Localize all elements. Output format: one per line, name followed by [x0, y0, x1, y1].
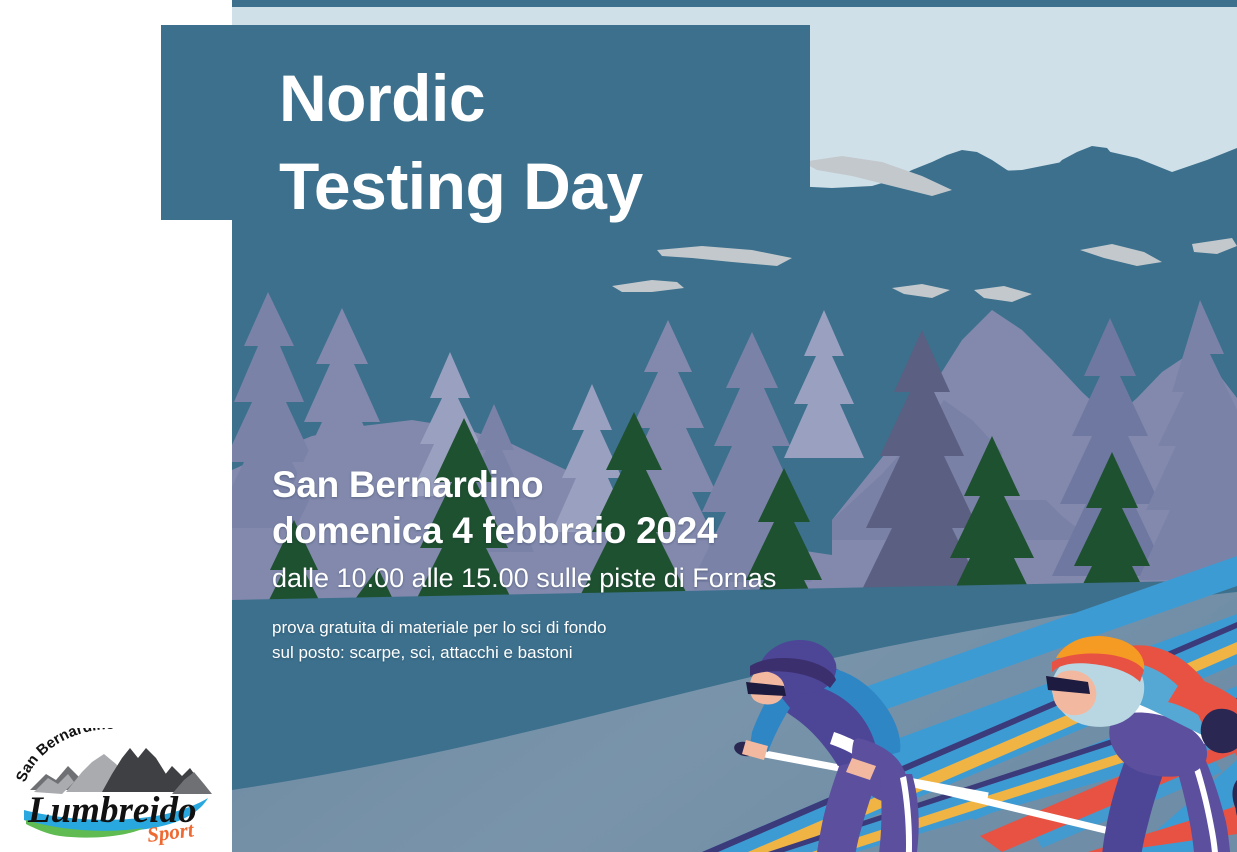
event-time-and-place: dalle 10.00 alle 15.00 sulle piste di Fo… [272, 562, 776, 594]
event-detail-line-1: prova gratuita di materiale per lo sci d… [272, 616, 776, 640]
event-location: San Bernardino [272, 462, 776, 508]
event-detail-line-2: sul posto: scarpe, sci, attacchi e basto… [272, 641, 776, 665]
poster-root: Nordic Testing Day San Bernardino domeni… [0, 0, 1237, 852]
sponsor-logo: San Bernardino Lumbreido Sport [16, 728, 221, 846]
logo-sport-text: Sport [146, 817, 196, 846]
title-line-1: Nordic [279, 65, 485, 131]
logo-svg: San Bernardino Lumbreido Sport [16, 728, 221, 846]
top-edge-line [232, 0, 1237, 7]
event-date: domenica 4 febbraio 2024 [272, 508, 776, 554]
title-line-2: Testing Day [279, 153, 643, 219]
event-details: San Bernardino domenica 4 febbraio 2024 … [272, 462, 776, 665]
title-block: Nordic Testing Day [161, 25, 810, 220]
skier1-leg-front [876, 774, 919, 852]
event-extra-info: prova gratuita di materiale per lo sci d… [272, 616, 776, 664]
